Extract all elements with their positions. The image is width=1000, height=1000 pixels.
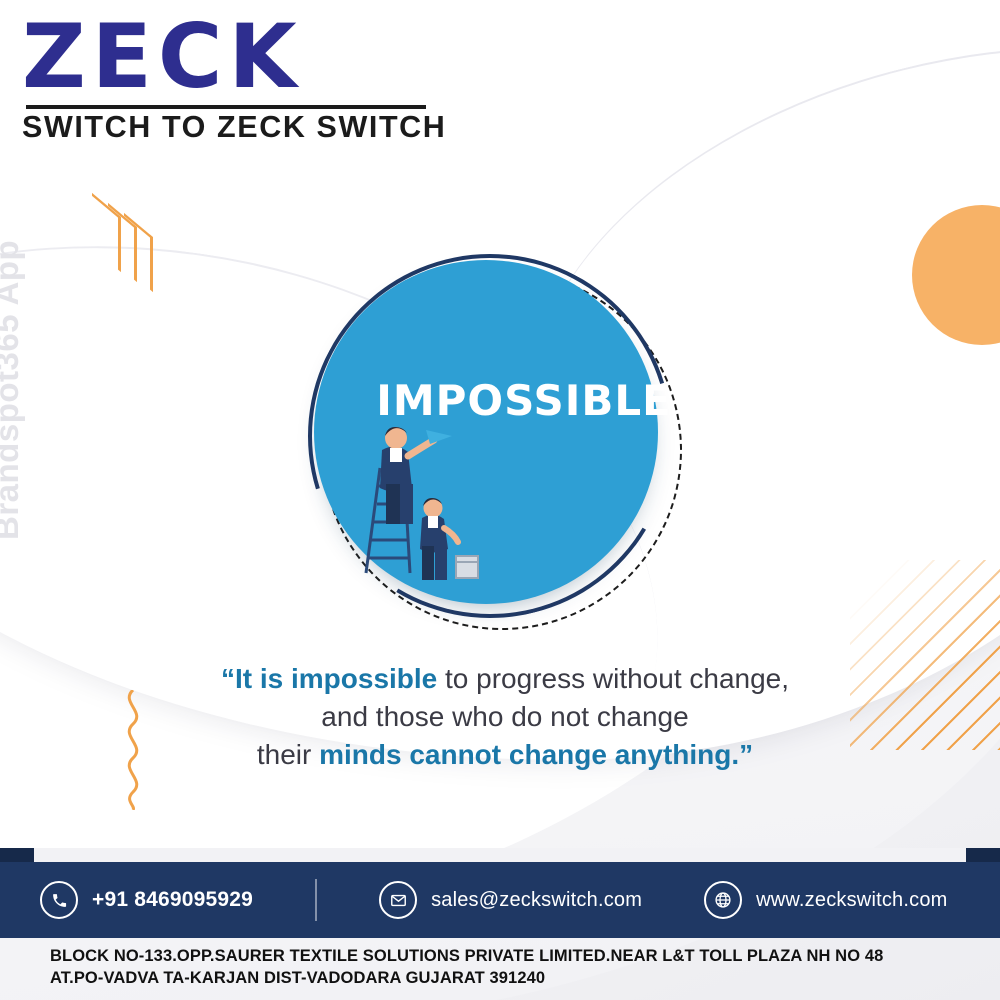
contact-divider [315,879,317,921]
address-line-2: AT.PO-VADVA TA-KARJAN DIST-VADODARA GUJA… [50,967,970,989]
quote-highlight-2: minds cannot change anything.” [319,739,753,770]
phone-number: +91 8469095929 [92,888,253,912]
contact-bar-corner-left [0,848,34,862]
quote-line-1: “It is impossible to progress without ch… [120,660,890,698]
website-url: www.zeckswitch.com [756,889,947,912]
logo-wordmark: ZECK [22,12,452,102]
brand-logo: ZECK SWITCH TO ZECK SWITCH [22,12,452,145]
quote-text: “It is impossible to progress without ch… [120,660,890,773]
globe-icon [704,881,742,919]
quote-plain-2: their [257,739,319,770]
contact-email[interactable]: sales@zeckswitch.com [379,881,642,919]
contact-bar-corner-right [966,848,1000,862]
address-block: BLOCK NO-133.OPP.SAURER TEXTILE SOLUTION… [50,945,970,990]
poster-canvas: Brandspot365 App ZECK SWITCH TO ZECK SWI… [0,0,1000,1000]
phone-icon [40,881,78,919]
envelope-icon [379,881,417,919]
contact-phone[interactable]: +91 8469095929 [40,881,253,919]
quote-line-2: and those who do not change [120,698,890,736]
contact-bar: +91 8469095929 sales@zeckswitch.com [0,862,1000,938]
logo-underline [26,105,426,109]
footer-strip [0,848,1000,862]
quote-plain-1: to progress without change, [437,663,789,694]
watermark-text: Brandspot365 App [0,120,26,540]
logo-tagline: SWITCH TO ZECK SWITCH [22,110,452,145]
contact-website[interactable]: www.zeckswitch.com [704,881,947,919]
quote-line-3: their minds cannot change anything.” [120,736,890,774]
painter-on-ladder-illustration [352,398,532,598]
email-address: sales@zeckswitch.com [431,889,642,912]
hero-circle: IMPOSSIBLE [300,248,700,648]
address-line-1: BLOCK NO-133.OPP.SAURER TEXTILE SOLUTION… [50,945,970,967]
quote-highlight-1: “It is impossible [221,663,437,694]
orange-chevron-decoration [92,205,162,285]
